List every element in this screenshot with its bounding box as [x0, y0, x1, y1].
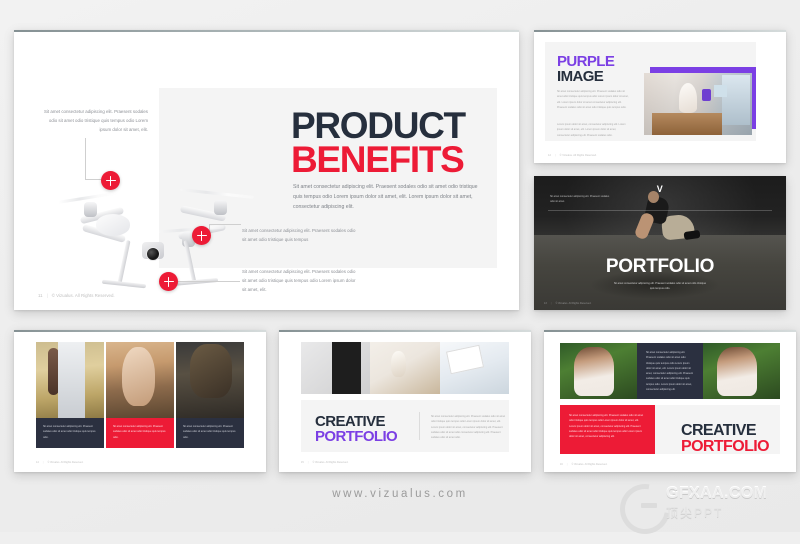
footer-separator: | — [551, 302, 552, 305]
title-line-1: CREATIVE — [681, 423, 769, 439]
header-rule — [548, 210, 772, 211]
leader-line-left-vertical — [85, 138, 87, 180]
paragraph-1: Sit amet consectetur adipiscing elit. Pr… — [557, 89, 629, 110]
title-line-2: BENEFITS — [291, 143, 465, 177]
window-shape — [722, 75, 750, 125]
photo-caption-strip: Sit amet consectetur adipiscing elit. Pr… — [36, 342, 244, 448]
slide-title: CREATIVE PORTFOLIO — [315, 414, 397, 445]
dark-paragraph: Sit amet consectetur adipiscing elit. Pr… — [637, 343, 703, 399]
caption-1: Sit amet consectetur adipiscing elit. Pr… — [36, 418, 104, 448]
top-row: Sit amet consectetur adipiscing elit. Pr… — [560, 343, 780, 399]
grid-column[interactable]: Sit amet consectetur adipiscing elit. Pr… — [176, 342, 244, 448]
grid-column[interactable]: Sit amet consectetur adipiscing elit. Pr… — [36, 342, 104, 448]
slide-subtitle: Sit amet consectetur adipiscing elit. Pr… — [612, 281, 708, 291]
slide-portfolio[interactable]: V Sit amet consectetur adipiscing elit. … — [534, 176, 786, 310]
annotation-left: Sit amet consectetur adipiscing elit. Pr… — [42, 108, 148, 134]
band-photo-2 — [370, 342, 439, 394]
footer-copyright: © Vizualus. All Rights Reserved. — [571, 463, 607, 466]
ampersand-glyph: & — [337, 353, 351, 373]
hotspot-plus-1[interactable] — [101, 171, 120, 190]
slide-body-text: Sit amet consectetur adipiscing elit. Pr… — [293, 182, 478, 212]
title-line-1: CREATIVE — [315, 414, 397, 429]
slide-footer: 15 | © Vizualus. All Rights Reserved. — [301, 461, 531, 464]
footer-separator: | — [43, 461, 44, 464]
slide-product-benefits[interactable]: Sit amet consectetur adipiscing elit. Pr… — [14, 30, 519, 310]
forest-photo-right — [703, 343, 780, 399]
footer-copyright: © Vizualus. All Rights Reserved. — [555, 302, 591, 305]
slide-creative-portfolio-red[interactable]: Sit amet consectetur adipiscing elit. Pr… — [544, 330, 796, 472]
slide-footer: 12 | © Vizualus. All Rights Reserved. — [548, 154, 786, 157]
drone-camera-lens — [146, 247, 160, 261]
slide-creative-portfolio-purple[interactable]: & CREATIVE PORTFOLIO Sit amet consectetu… — [279, 330, 531, 472]
annotation-right-2: Sit amet consectetur adipiscing elit. Pr… — [242, 268, 360, 294]
watermark-domain: GFXAA.COM — [666, 485, 767, 503]
watermark-subtitle: 顶尖PPT — [666, 504, 723, 521]
title-line-1: PRODUCT — [291, 109, 465, 143]
caption-2: Sit amet consectetur adipiscing elit. Pr… — [106, 418, 174, 448]
slide-title: CREATIVE PORTFOLIO — [681, 423, 769, 456]
g-logo-bar — [641, 503, 657, 508]
footer-page-number: 14 — [36, 461, 39, 464]
footer-copyright: © Vizualus. All Rights Reserved. — [560, 154, 597, 157]
title-panel: CREATIVE PORTFOLIO — [655, 405, 780, 454]
footer-page-number: 11 — [38, 293, 43, 298]
interior-photo — [644, 73, 752, 135]
slide-footer: 13 | © Vizualus. All Rights Reserved. — [544, 302, 786, 305]
bottom-row: Sit amet consectetur adipiscing elit. Pr… — [560, 405, 780, 454]
footer-copyright: © Vizualus. All Rights Reserved. — [312, 461, 348, 464]
leader-line-right-2 — [176, 281, 240, 283]
leader-line-right-1 — [209, 224, 241, 226]
athlete-figure — [640, 195, 698, 253]
portrait-photo-2 — [106, 342, 174, 418]
hotspot-plus-3[interactable] — [159, 272, 178, 291]
drone-nose — [96, 214, 130, 236]
slide-footer: 14 | © Vizualus. All Rights Reserved. — [36, 461, 266, 464]
counter-shape — [652, 113, 722, 135]
paragraph: Sit amet consectetur adipiscing elit. Pr… — [431, 414, 507, 440]
title-line-1: PURPLE — [557, 54, 614, 69]
logo-mark-icon: V — [657, 184, 664, 194]
band-photo-3 — [440, 342, 509, 394]
slide-title: PURPLE IMAGE — [557, 54, 614, 84]
hotspot-plus-2[interactable] — [192, 226, 211, 245]
photo-band: & — [301, 342, 509, 394]
footer-page-number: 13 — [544, 302, 547, 305]
title-line-2: PORTFOLIO — [681, 439, 769, 455]
footer-separator: | — [555, 154, 556, 157]
slide-title: PORTFOLIO — [534, 256, 786, 278]
slide-footer: 16 | © Vizualus. All Rights Reserved. — [560, 463, 796, 466]
top-note: Sit amet consectetur adipiscing elit. Pr… — [550, 194, 610, 205]
red-paragraph: Sit amet consectetur adipiscing elit. Pr… — [560, 405, 655, 454]
watermark: GFXAA.COM 顶尖PPT — [614, 482, 792, 528]
footer-page-number: 16 — [560, 463, 563, 466]
vase-shape — [679, 83, 697, 113]
portrait-photo-1 — [36, 342, 104, 418]
footer-page-number: 15 — [301, 461, 304, 464]
annotation-right-1: Sit amet consectetur adipiscing elit. Pr… — [242, 227, 360, 245]
slide-title: PRODUCT BENEFITS — [291, 109, 465, 178]
grid-column[interactable]: Sit amet consectetur adipiscing elit. Pr… — [106, 342, 174, 448]
footer-page-number: 12 — [548, 154, 551, 157]
purple-lamp-shape — [702, 89, 711, 101]
title-line-2: PORTFOLIO — [315, 429, 397, 444]
portrait-photo-3 — [176, 342, 244, 418]
footer-separator: | — [47, 293, 48, 298]
vertical-divider — [419, 412, 420, 440]
forest-photo-left — [560, 343, 637, 399]
footer-separator: | — [567, 463, 568, 466]
paragraph-2: Lorem ipsum dolor sit amet, consectetur … — [557, 122, 629, 138]
wall-art-shape — [714, 85, 727, 97]
footer-copyright: © Vizualus. All Rights Reserved. — [52, 293, 115, 298]
footer-copyright: © Vizualus. All Rights Reserved. — [47, 461, 83, 464]
slide-people-grid[interactable]: Sit amet consectetur adipiscing elit. Pr… — [14, 330, 266, 472]
title-line-2: IMAGE — [557, 69, 614, 84]
band-photo-1: & — [301, 342, 370, 394]
slide-footer: 11 | © Vizualus. All Rights Reserved. — [38, 293, 519, 298]
footer-separator: | — [308, 461, 309, 464]
slide-purple-image[interactable]: PURPLE IMAGE Sit amet consectetur adipis… — [534, 30, 786, 163]
caption-3: Sit amet consectetur adipiscing elit. Pr… — [176, 418, 244, 448]
